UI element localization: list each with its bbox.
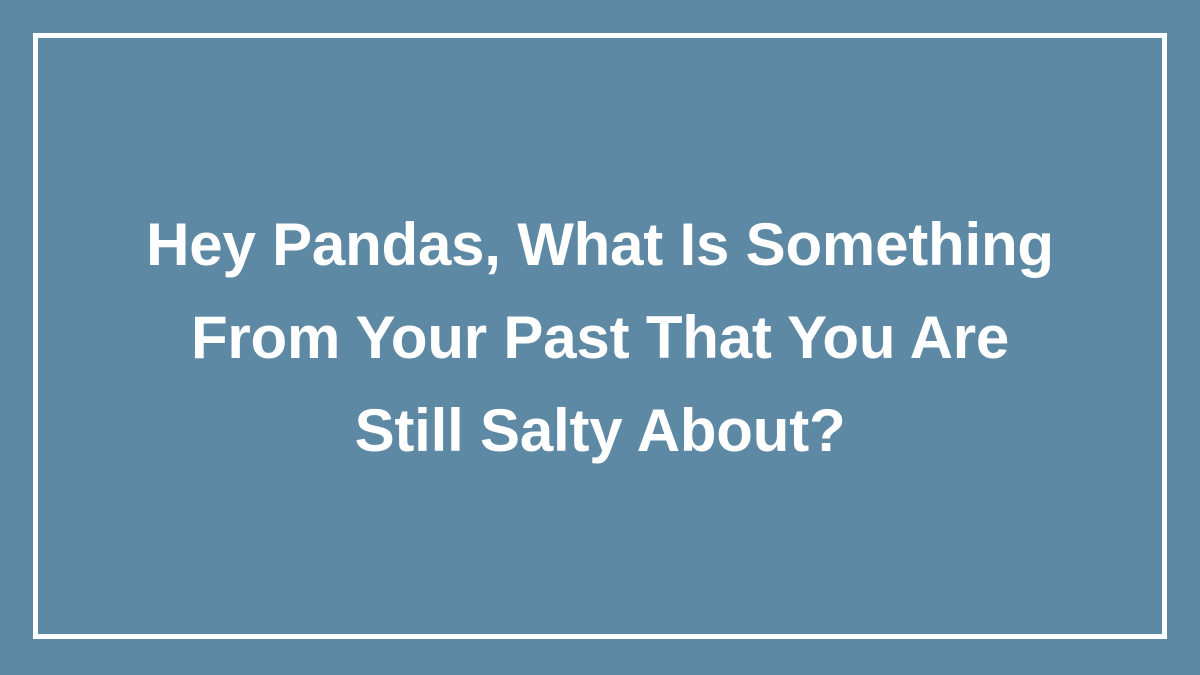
title-line-3: Still Salty About? [355, 384, 846, 477]
title-line-1: Hey Pandas, What Is Something [146, 198, 1054, 291]
title-line-2: From Your Past That You Are [191, 291, 1009, 384]
page-title: Hey Pandas, What Is Something From Your … [60, 0, 1140, 675]
title-card: Hey Pandas, What Is Something From Your … [0, 0, 1200, 675]
